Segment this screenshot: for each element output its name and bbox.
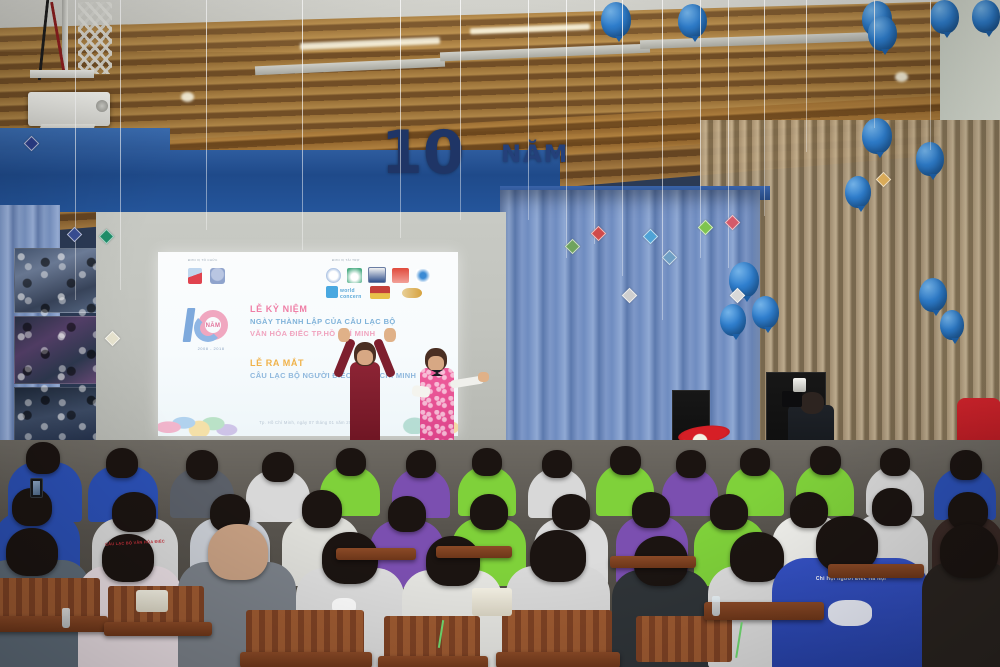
balloon (752, 296, 779, 329)
sponsor-logo-green-bridge-icon (347, 268, 362, 283)
gray-shirt-print-text: CÂU LẠC BỘ VĂN HÓA ĐIẾC (96, 540, 174, 545)
sponsor-logo-red-m-icon (392, 268, 409, 283)
wall-letter-number: 10 (381, 118, 465, 188)
bench-frame (828, 564, 924, 578)
sponsor-logo-blue-seal-icon (326, 268, 341, 283)
mc-pink-hand (478, 372, 489, 382)
balloon (720, 304, 746, 336)
bench-frame (0, 616, 108, 632)
balloon (678, 4, 707, 38)
attendee-head-front (940, 524, 998, 578)
bench-frame (378, 656, 488, 667)
ribbon (930, 0, 931, 150)
attendee-head (388, 496, 426, 532)
sponsor-logo-crest-icon (368, 267, 386, 283)
attendee-head (26, 442, 60, 474)
logo-year-range: 2008 - 2018 (190, 346, 232, 351)
attendee-head-front-bald (208, 524, 268, 580)
phone-screen (33, 481, 40, 495)
ribbon (700, 0, 701, 258)
attendee-head (740, 448, 770, 476)
bench-frame (336, 548, 416, 560)
paper-bag (472, 588, 512, 616)
ribbon (400, 0, 401, 238)
wall-letter-word: NĂM (501, 140, 570, 168)
mc-maroon-hand-right (384, 328, 396, 342)
attendee-head (336, 448, 366, 476)
slide-subline-1a: NGÀY THÀNH LẬP CỦA CÂU LẠC BỘ (250, 317, 396, 326)
mc-maroon-face (357, 350, 373, 365)
ceiling-downlight (181, 92, 194, 102)
attendee-head (406, 450, 436, 478)
slide-anniversary-logo: NĂM 2008 - 2018 (182, 304, 234, 362)
attendee-head (810, 446, 841, 475)
org-logo-red-heart-icon (188, 268, 202, 284)
ribbon (764, 0, 765, 216)
ribbon (594, 0, 595, 244)
ribbon (874, 0, 875, 128)
projector-lens (96, 100, 108, 112)
sponsor-logo-iiic-icon (370, 286, 390, 299)
camera-flash (793, 378, 806, 392)
balloon (845, 176, 871, 208)
audience-seating-area: Chi Hội người Điếc Hà Nội CÂU LẠC BỘ VĂN… (0, 440, 1000, 667)
bench-frame (496, 652, 620, 667)
attendee-head (676, 450, 706, 478)
blue-shirt-hands-logo (828, 600, 872, 626)
projector-ceiling-plate (30, 70, 94, 78)
photographer-head (800, 392, 824, 414)
attendee-head (552, 494, 590, 530)
photo-panel-column-left (14, 248, 100, 460)
attendee-head (106, 448, 138, 478)
auditorium-photo: 10 NĂM ĐƠN VỊ TỔ CHỨC ĐƠN VỊ TÀI TRỢ (0, 0, 1000, 667)
balloon (868, 16, 897, 51)
attendee-head (302, 490, 342, 528)
sponsor-logo-gold-swoosh-icon (402, 288, 422, 298)
bench-backrest (636, 616, 732, 662)
bench-frame (436, 546, 512, 558)
attendee-head-front (6, 528, 58, 576)
org-logo-blue-circle-icon (210, 268, 225, 284)
balloon (972, 0, 1000, 33)
attendee-head-front (530, 530, 586, 582)
balloon (862, 118, 892, 154)
bench-frame (704, 602, 824, 620)
sponsor-logo-world-concern-icon (326, 286, 338, 298)
balloon (940, 310, 964, 340)
balloon (601, 2, 631, 38)
ribbon (622, 0, 623, 276)
attendee-head-front (426, 536, 480, 586)
ribbon (728, 0, 729, 268)
paper-bag (136, 590, 168, 612)
balloon (930, 0, 959, 34)
attendee-head (112, 492, 156, 532)
bench-backrest (246, 610, 364, 658)
balloon (919, 278, 947, 312)
ribbon (806, 0, 807, 152)
slide-sponsor-logo-row: ĐƠN VỊ TỔ CHỨC ĐƠN VỊ TÀI TRỢ worldconce… (158, 256, 458, 302)
slide-headline-1: LỄ KỶ NIỆM (250, 304, 396, 314)
mc-pink-script-papers (411, 385, 430, 398)
attendee-head (470, 494, 508, 530)
bench-frame (104, 622, 212, 636)
attendee-head (262, 452, 294, 482)
attendee-head (872, 488, 912, 526)
ceiling-downlight-2 (895, 72, 908, 82)
camera (782, 391, 802, 407)
slide-organizer-caption: ĐƠN VỊ TỔ CHỨC (188, 258, 218, 262)
slide-hand-graphics-left (158, 392, 244, 436)
attendee-head (186, 450, 218, 480)
bench-frame (610, 556, 696, 568)
sponsor-logo-qcdc-icon (416, 269, 430, 282)
water-bottle (62, 608, 70, 628)
ribbon (662, 0, 663, 320)
slide-sponsor-caption: ĐƠN VỊ TÀI TRỢ (332, 258, 360, 262)
logo-nam-text: NĂM (202, 320, 224, 332)
ribbon (528, 0, 529, 220)
ribbon (120, 0, 121, 290)
attendee-head (632, 492, 670, 528)
attendee-head (790, 492, 828, 528)
attendee-head (710, 494, 748, 530)
projector-scissor-lift (78, 2, 112, 74)
bench-backrest (502, 610, 612, 658)
ribbon (75, 0, 76, 300)
mc-pink-face (428, 356, 444, 371)
wall-anniversary-letters: 10 NĂM (375, 120, 585, 185)
sponsor-logo-world-concern-label: worldconcern (340, 288, 362, 300)
attendee-head (472, 448, 502, 476)
ribbon (566, 0, 567, 258)
smartphone-recording[interactable] (30, 478, 43, 498)
mc-maroon-hand-left (338, 328, 350, 342)
attendee-head (610, 446, 641, 475)
attendee-head (542, 450, 572, 478)
bench-frame (240, 652, 372, 667)
ribbon (206, 0, 207, 230)
water-bottle (712, 596, 720, 616)
ribbon (460, 0, 461, 220)
ribbon (302, 0, 303, 250)
attendee-head (880, 448, 910, 476)
attendee-head (950, 450, 982, 480)
